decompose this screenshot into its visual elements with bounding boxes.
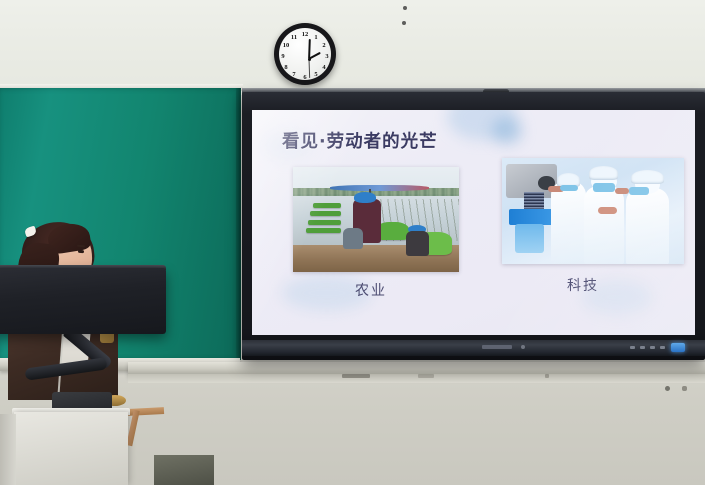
photo-worker-cap: [631, 170, 664, 185]
display-brand-logo: [482, 345, 512, 349]
photo-lab-worker: [584, 186, 624, 264]
photo-worker-mask: [560, 185, 578, 191]
agriculture-caption: 农业: [355, 280, 387, 300]
photo-farmer-hat: [354, 192, 376, 203]
photo-worker-cap: [589, 166, 618, 180]
display-control-button[interactable]: [650, 346, 655, 349]
wall-clock: 12 1 2 3 4 5 6 7 8 9 10 11: [274, 23, 336, 85]
slide-title: 看见·劳动者的光芒: [282, 128, 438, 153]
upper-wall: [0, 0, 705, 95]
photo-umbrella: [330, 185, 430, 191]
lectern: [14, 412, 128, 485]
wall-fixture-icon: [402, 21, 406, 25]
display-control-button[interactable]: [660, 346, 665, 349]
chalkboard-edge: [236, 88, 241, 360]
photo-blue-instrument: [509, 209, 556, 225]
photo-seedling-tray: [310, 211, 342, 216]
photo-seedling-tray: [306, 228, 341, 233]
ledge-marker: [545, 374, 549, 378]
technology-photo: [502, 158, 684, 264]
photo-farmer: [406, 231, 429, 256]
display-control-button[interactable]: [640, 346, 645, 349]
clock-numeral: 3: [322, 52, 332, 62]
display-control-button[interactable]: [630, 346, 635, 349]
wall-fixture-icon: [403, 6, 407, 10]
slide-decoration: [492, 118, 522, 144]
photo-seedling-bundle: [376, 222, 409, 241]
photo-blue-tank: [515, 224, 544, 254]
power-button[interactable]: [671, 343, 685, 352]
photo-farmer: [343, 228, 363, 249]
clock-numeral: 5: [311, 70, 321, 80]
display-bottom-bezel: [242, 340, 705, 356]
photo-seedling-tray: [308, 220, 341, 225]
photo-seedling-tray: [313, 203, 341, 208]
desk-monitor[interactable]: [0, 268, 166, 334]
clock-second-hand: [309, 59, 311, 78]
wall-socket-icon: [665, 386, 670, 391]
teacher-eye: [78, 250, 84, 253]
photo-worker-mask: [629, 187, 649, 195]
clock-numeral: 9: [278, 52, 288, 62]
ir-receiver-icon: [521, 345, 525, 349]
photo-lab-worker: [551, 181, 586, 264]
clock-numeral: 11: [289, 33, 299, 43]
photo-worker-mask: [593, 183, 615, 191]
wall-switch-icon: [682, 386, 687, 391]
photo-lab-worker: [626, 188, 670, 264]
clock-face: 12 1 2 3 4 5 6 7 8 9 10 11: [279, 28, 331, 80]
lectern-side: [0, 414, 16, 485]
clock-numeral: 8: [281, 63, 291, 73]
classroom-scene: 12 1 2 3 4 5 6 7 8 9 10 11 看见·劳动者的光芒: [0, 0, 705, 485]
floor-equipment: [154, 455, 214, 485]
presentation-screen[interactable]: 看见·劳动者的光芒 农业: [252, 110, 695, 335]
board-ledge-lower: [128, 374, 705, 383]
clock-center-pin: [308, 58, 312, 62]
photo-worker-hand: [598, 207, 616, 214]
ledge-marker: [418, 374, 434, 378]
agriculture-photo: [293, 167, 459, 272]
clock-numeral: 2: [319, 41, 329, 51]
photo-worker-hand: [615, 188, 630, 194]
technology-caption: 科技: [567, 275, 599, 295]
ledge-marker: [342, 374, 370, 378]
